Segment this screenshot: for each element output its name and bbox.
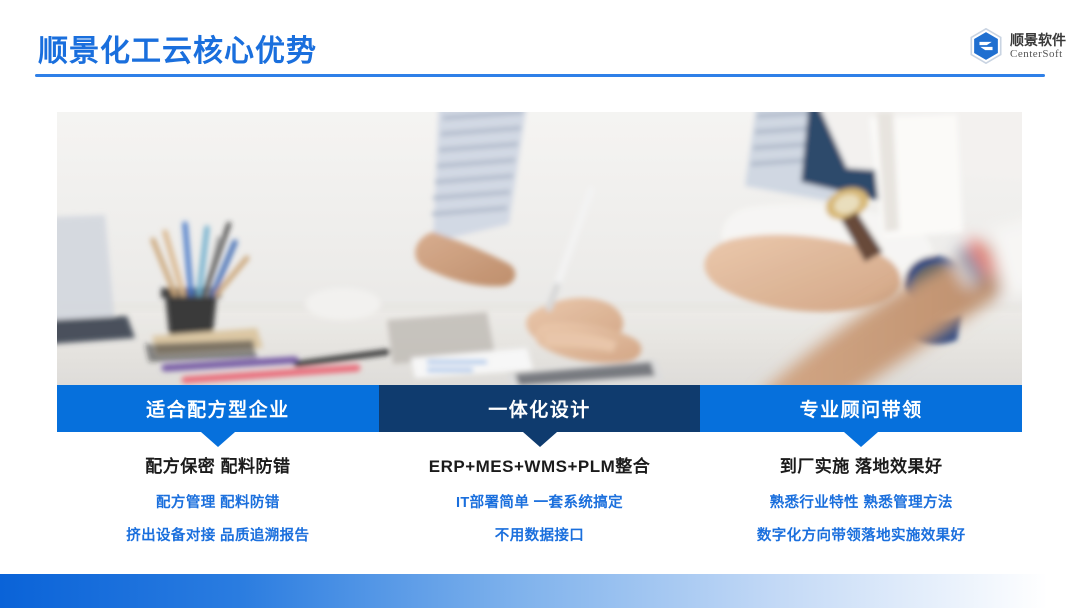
feature-column-2: ERP+MES+WMS+PLM整合 IT部署简单 一套系统搞定 不用数据接口 xyxy=(379,452,701,557)
feature-column-1-line-2: 挤出设备对接 品质追溯报告 xyxy=(126,524,309,545)
feature-column-3-line-1: 熟悉行业特性 熟悉管理方法 xyxy=(770,491,953,512)
title-divider xyxy=(35,74,1045,77)
feature-banner-2[interactable]: 一体化设计 xyxy=(379,385,701,432)
feature-column-2-line-1: IT部署简单 一套系统搞定 xyxy=(456,491,623,512)
logo-name-en: CenterSoft xyxy=(1010,49,1066,60)
footer-gradient-bar xyxy=(0,574,1080,608)
logo-name-cn: 顺景软件 xyxy=(1010,33,1066,47)
banner-pointer-icon xyxy=(844,432,878,447)
brand-logo: 顺景软件 CenterSoft xyxy=(969,28,1066,64)
feature-column-1: 配方保密 配料防错 配方管理 配料防错 挤出设备对接 品质追溯报告 xyxy=(57,452,379,557)
feature-column-3-line-2: 数字化方向带领落地实施效果好 xyxy=(757,524,966,545)
feature-column-3-head: 到厂实施 落地效果好 xyxy=(780,452,943,477)
feature-column-3: 到厂实施 落地效果好 熟悉行业特性 熟悉管理方法 数字化方向带领落地实施效果好 xyxy=(700,452,1022,557)
feature-column-1-head: 配方保密 配料防错 xyxy=(145,452,290,477)
banner-pointer-icon xyxy=(201,432,235,447)
banner-pointer-icon xyxy=(523,432,557,447)
feature-banner-2-label: 一体化设计 xyxy=(488,395,591,422)
feature-column-2-head: ERP+MES+WMS+PLM整合 xyxy=(429,452,651,477)
hexagon-s-logo-icon xyxy=(969,28,1003,64)
hero-photo xyxy=(57,112,1022,385)
feature-column-1-line-1: 配方管理 配料防错 xyxy=(156,491,280,512)
feature-columns: 配方保密 配料防错 配方管理 配料防错 挤出设备对接 品质追溯报告 ERP+ME… xyxy=(57,452,1022,557)
feature-banner-3[interactable]: 专业顾问带领 xyxy=(700,385,1022,432)
feature-banner-row: 适合配方型企业 一体化设计 专业顾问带领 xyxy=(57,385,1022,432)
feature-banner-3-label: 专业顾问带领 xyxy=(800,395,923,422)
feature-column-2-line-2: 不用数据接口 xyxy=(495,524,584,545)
hero-photo-illustration xyxy=(57,112,1022,385)
feature-banner-1-label: 适合配方型企业 xyxy=(146,395,290,422)
slide-header: 顺景化工云核心优势 顺景软件 CenterSoft xyxy=(0,0,1080,88)
logo-text-block: 顺景软件 CenterSoft xyxy=(1010,33,1066,60)
feature-banner-1[interactable]: 适合配方型企业 xyxy=(57,385,379,432)
page-title: 顺景化工云核心优势 xyxy=(38,26,317,70)
